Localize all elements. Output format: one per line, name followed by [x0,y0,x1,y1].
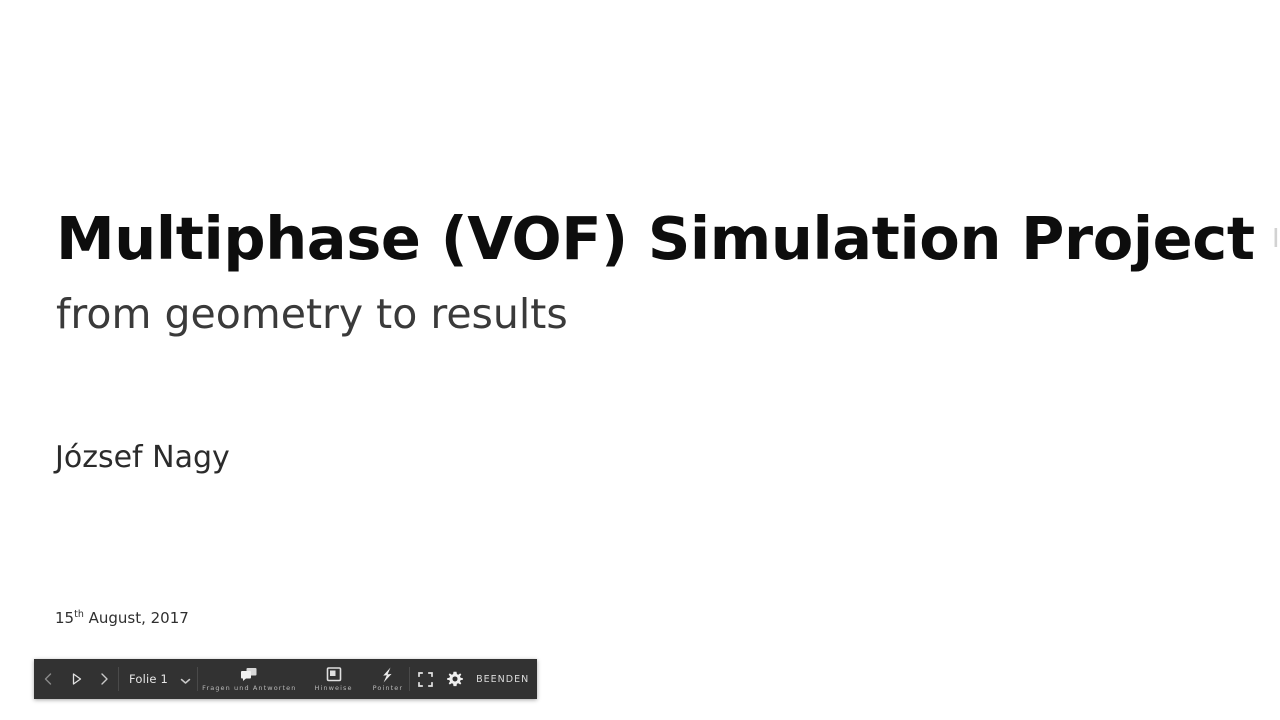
exit-presentation-button[interactable]: BEENDEN [470,659,541,699]
settings-button[interactable] [440,659,470,699]
view-controls: BEENDEN [410,659,541,699]
pointer-label: Pointer [373,684,404,692]
presenter-tools: Fragen und Antworten Hinweise Pointer [198,659,409,699]
slide-subtitle: from geometry to results [56,292,568,337]
qa-label: Fragen und Antworten [202,684,296,692]
notes-label: Hinweise [315,684,353,692]
offslide-edge-fragment: I [1272,222,1280,256]
exit-label: BEENDEN [476,674,529,685]
speaker-notes-icon [326,666,342,683]
slide-selector[interactable]: Folie 1 [119,659,197,699]
slide-title: Multiphase (VOF) Simulation Project [56,208,1255,270]
chevron-right-icon [98,672,110,686]
date-ordinal-suffix: th [74,609,84,620]
presenter-toolbar: Folie 1 Fragen und Antworten [34,659,537,699]
fullscreen-button[interactable] [410,659,440,699]
pointer-button[interactable]: Pointer [367,659,410,699]
notes-button[interactable]: Hinweise [309,659,359,699]
qa-button[interactable]: Fragen und Antworten [198,659,300,699]
chevron-down-icon [180,670,191,689]
play-button[interactable] [62,659,90,699]
previous-slide-button[interactable] [34,659,62,699]
fullscreen-exit-icon [418,672,433,687]
slide-selector-label: Folie 1 [129,672,168,686]
slide-date: 15th August, 2017 [55,609,189,627]
date-day-number: 15 [55,609,74,627]
laser-pointer-icon [380,666,395,683]
navigation-controls [34,659,118,699]
gear-icon [447,671,463,687]
slide-author: József Nagy [55,441,230,474]
play-triangle-icon [70,672,83,686]
chat-bubbles-icon [240,666,258,683]
chevron-left-icon [42,672,54,686]
next-slide-button[interactable] [90,659,118,699]
date-month-year: August, 2017 [84,609,189,627]
presentation-slide: Multiphase (VOF) Simulation Project from… [0,0,1280,720]
